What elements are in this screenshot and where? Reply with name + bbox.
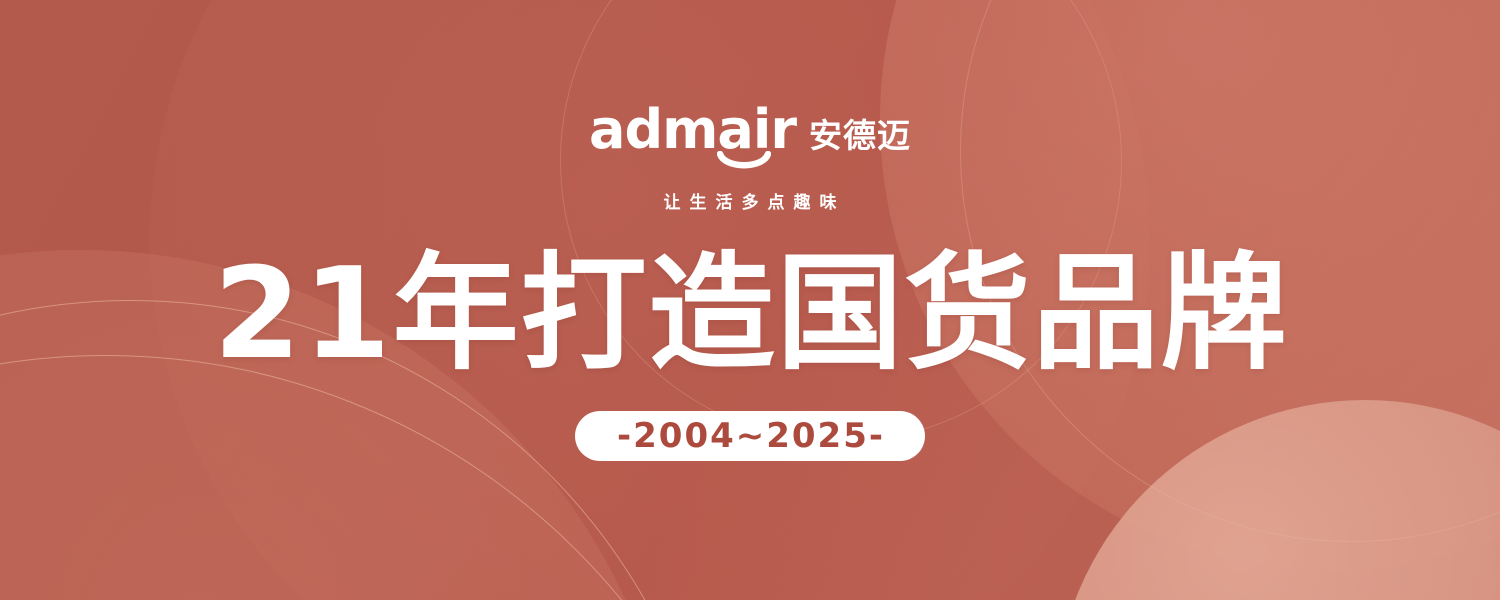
smile-curve-icon	[717, 151, 771, 173]
promo-banner: admair 安德迈 让生活多点趣味 21年打造国货品牌 -2004~2025-	[0, 0, 1500, 600]
logo-chinese-name: 安德迈	[809, 119, 911, 157]
logo-mark: admair 安德迈	[589, 103, 911, 157]
brand-tagline: 让生活多点趣味	[0, 188, 1500, 213]
logo-wordmark: admair	[589, 103, 796, 157]
year-badge-wrapper: -2004~2025-	[0, 411, 1500, 461]
year-range-badge: -2004~2025-	[575, 411, 925, 461]
banner-content: admair 安德迈 让生活多点趣味 21年打造国货品牌 -2004~2025-	[0, 0, 1500, 600]
headline-title: 21年打造国货品牌	[0, 246, 1500, 382]
brand-logo-lockup: admair 安德迈	[0, 103, 1500, 157]
